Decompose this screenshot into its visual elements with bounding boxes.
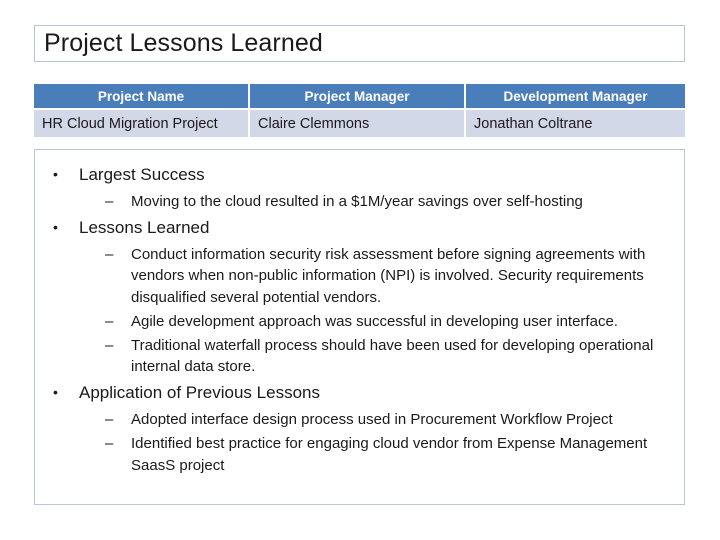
- dash-bullet-icon: –: [105, 311, 113, 332]
- bullet-icon: •: [53, 215, 58, 241]
- cell-project-name: HR Cloud Migration Project: [34, 110, 250, 137]
- section-heading: Lessons Learned: [79, 218, 209, 237]
- dash-bullet-icon: –: [105, 244, 113, 265]
- table-header-row: Project Name Project Manager Development…: [34, 84, 685, 110]
- list-item-text: Traditional waterfall process should hav…: [131, 337, 653, 375]
- list-item: – Traditional waterfall process should h…: [105, 335, 672, 378]
- dash-bullet-icon: –: [105, 335, 113, 356]
- section-heading: Largest Success: [79, 165, 205, 184]
- slide-title-box[interactable]: Project Lessons Learned: [34, 25, 685, 62]
- column-header-development-manager: Development Manager: [466, 84, 685, 110]
- project-info-table[interactable]: Project Name Project Manager Development…: [34, 84, 685, 137]
- list-item-text: Conduct information security risk assess…: [131, 246, 645, 306]
- bullet-icon: •: [53, 380, 58, 406]
- list-item: – Adopted interface design process used …: [105, 409, 672, 430]
- list-item: – Moving to the cloud resulted in a $1M/…: [105, 191, 672, 212]
- list-item-text: Moving to the cloud resulted in a $1M/ye…: [131, 193, 583, 210]
- section-largest-success: • Largest Success – Moving to the cloud …: [41, 162, 672, 213]
- list-item-text: Agile development approach was successfu…: [131, 313, 618, 330]
- column-header-project-manager: Project Manager: [250, 84, 466, 110]
- cell-development-manager: Jonathan Coltrane: [466, 110, 685, 137]
- dash-bullet-icon: –: [105, 191, 113, 212]
- slide-body-box[interactable]: • Largest Success – Moving to the cloud …: [34, 149, 685, 505]
- dash-bullet-icon: –: [105, 433, 113, 454]
- lessons-bullet-list: • Largest Success – Moving to the cloud …: [41, 162, 672, 476]
- section-lessons-learned: • Lessons Learned – Conduct information …: [41, 215, 672, 378]
- sub-bullet-list: – Conduct information security risk asse…: [79, 244, 672, 378]
- bullet-icon: •: [53, 162, 58, 188]
- table-row: HR Cloud Migration Project Claire Clemmo…: [34, 110, 685, 137]
- column-header-project-name: Project Name: [34, 84, 250, 110]
- list-item-text: Identified best practice for engaging cl…: [131, 435, 647, 473]
- sub-bullet-list: – Adopted interface design process used …: [79, 409, 672, 476]
- list-item-text: Adopted interface design process used in…: [131, 411, 613, 428]
- cell-project-manager: Claire Clemmons: [250, 110, 466, 137]
- section-heading: Application of Previous Lessons: [79, 383, 320, 402]
- slide-canvas: Project Lessons Learned Project Name Pro…: [0, 0, 720, 540]
- dash-bullet-icon: –: [105, 409, 113, 430]
- page-title: Project Lessons Learned: [35, 30, 323, 56]
- list-item: – Identified best practice for engaging …: [105, 433, 672, 476]
- sub-bullet-list: – Moving to the cloud resulted in a $1M/…: [79, 191, 672, 212]
- list-item: – Conduct information security risk asse…: [105, 244, 672, 308]
- list-item: – Agile development approach was success…: [105, 311, 672, 332]
- section-application-of-previous-lessons: • Application of Previous Lessons – Adop…: [41, 380, 672, 476]
